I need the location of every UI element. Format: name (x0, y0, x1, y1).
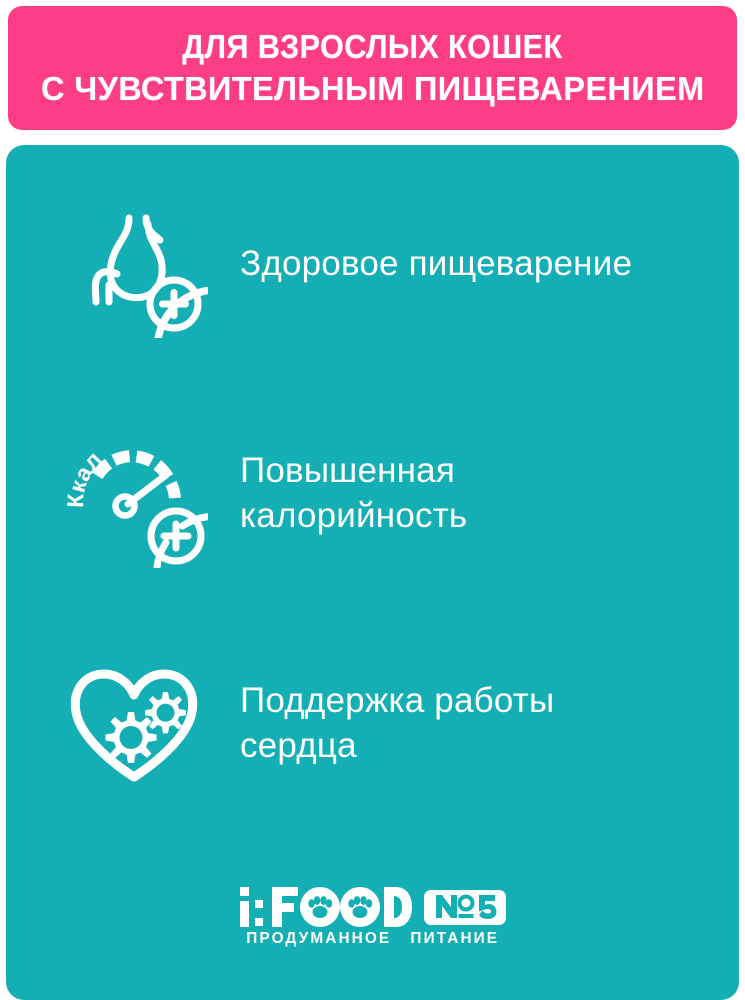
header-line-1: ДЛЯ ВЗРОСЛЫХ КОШЕК (182, 27, 562, 67)
promo-banner-canvas: ДЛЯ ВЗРОСЛЫХ КОШЕК С ЧУВСТВИТЕЛЬНЫМ ПИЩЕ… (0, 0, 745, 1000)
benefit-item-calories: Ккал Повышенная калорийность (60, 420, 720, 568)
heart-gears-icon (60, 650, 208, 798)
header-line-2: С ЧУВСТВИТЕЛЬНЫМ ПИЩЕВАРЕНИЕМ (41, 69, 705, 109)
benefit-label-digestion: Здоровое пищеварение (240, 242, 632, 287)
logo-badge-number (424, 890, 506, 925)
logo-main-row (240, 887, 506, 927)
calorie-gauge-plus-icon: Ккал (60, 420, 208, 568)
logo-tagline: ПРОДУМАННОЕ ПИТАНИЕ (246, 930, 499, 948)
benefit-item-heart: Поддержка работы сердца (60, 650, 720, 798)
features-panel: Здоровое пищеварение (6, 145, 739, 1000)
benefit-label-heart: Поддержка работы сердца (240, 679, 554, 769)
stomach-plus-icon (60, 190, 208, 338)
header-banner: ДЛЯ ВЗРОСЛЫХ КОШЕК С ЧУВСТВИТЕЛЬНЫМ ПИЩЕ… (8, 6, 737, 130)
logo-wordmark-ifood (240, 887, 412, 927)
benefit-item-digestion: Здоровое пищеварение (60, 190, 720, 338)
benefit-label-calories: Повышенная калорийность (240, 449, 467, 539)
brand-logo: ПРОДУМАННОЕ ПИТАНИЕ (6, 887, 739, 948)
